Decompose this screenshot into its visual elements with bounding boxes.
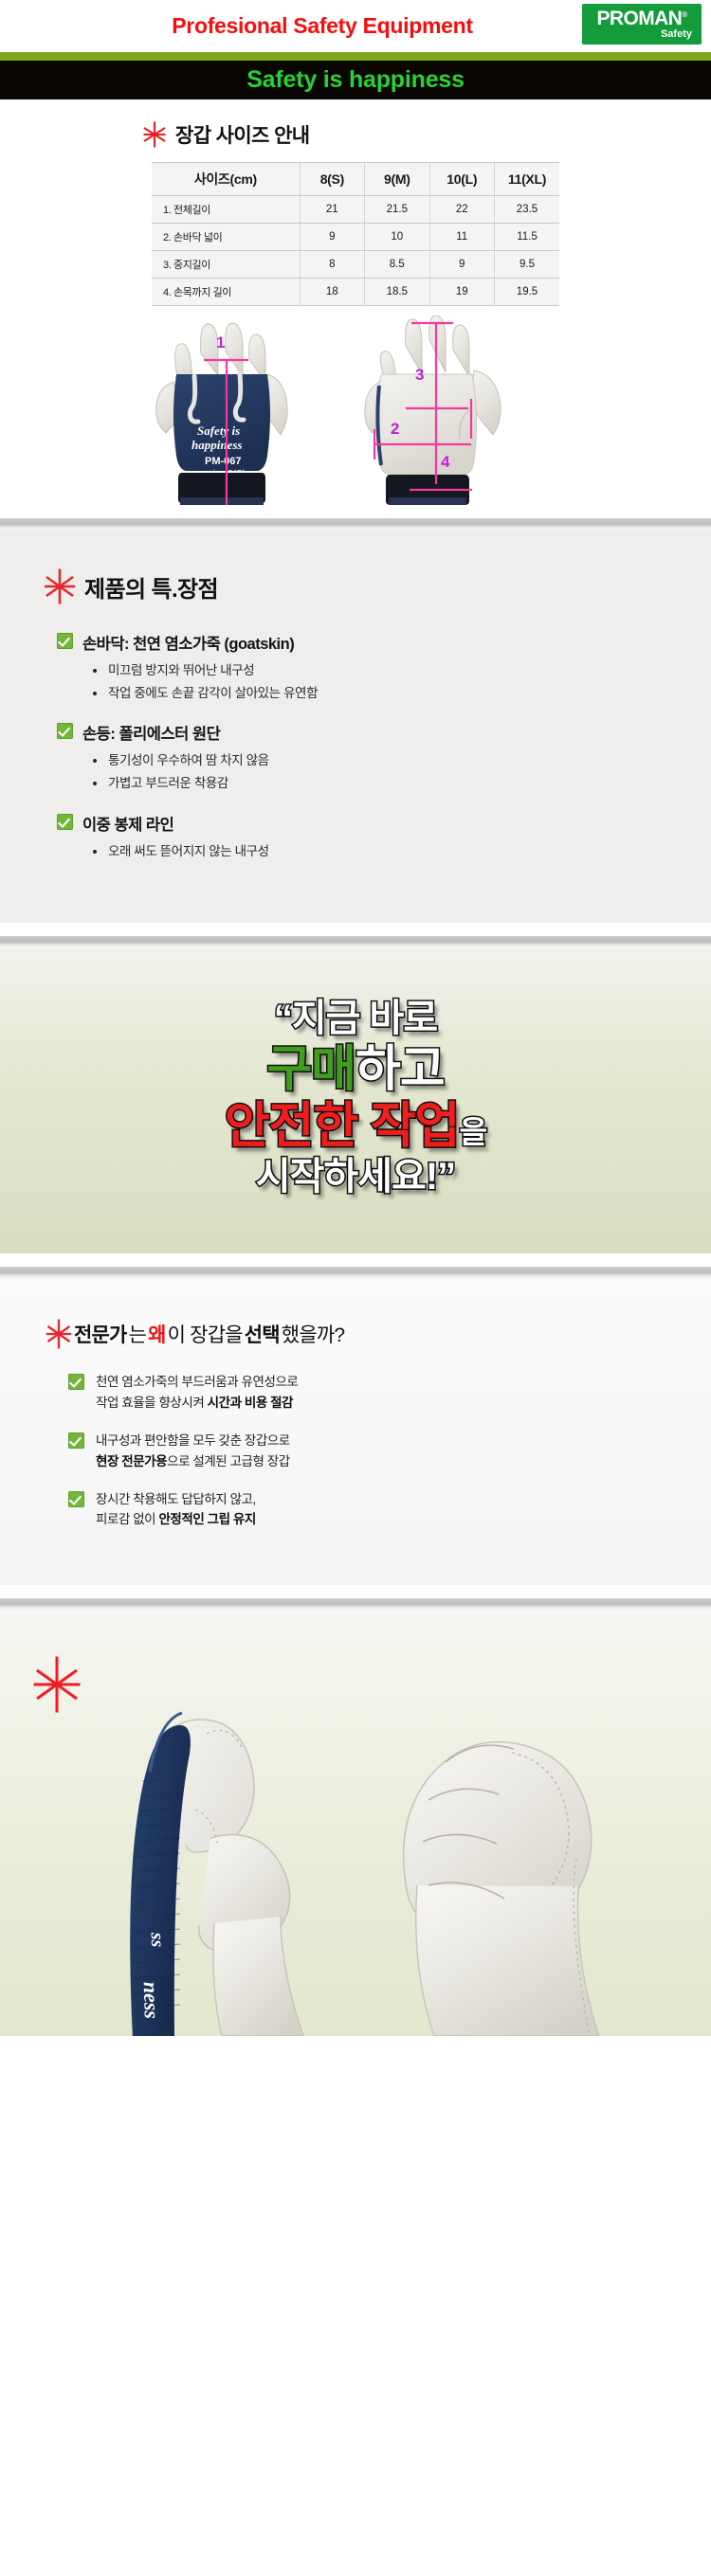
list-item: 오래 써도 뜯어지지 않는 내구성 [93,840,711,863]
section-separator-bar [0,518,711,531]
col-header-m: 9(M) [365,163,429,196]
cell-value: 21.5 [365,196,429,224]
expert-title-tail: 했을까? [282,1320,344,1348]
feature-block: 손등: 폴리에스터 원단 통기성이 우수하여 땀 차지 않음 가볍고 부드러운 … [0,721,711,794]
glove-print-model: PM-067 [205,456,242,467]
expert-title-expert: 전문가 [74,1320,127,1348]
cell-value: 8 [300,251,364,279]
expert-reason-item: 내구성과 편안함을 모두 갖춘 장갑으로 현장 전문가용으로 설계된 고급형 장… [0,1431,711,1472]
green-check-icon [57,814,73,830]
expert-reason-text: 내구성과 편안함을 모두 갖춘 장갑으로 현장 전문가용으로 설계된 고급형 장… [96,1431,290,1472]
list-item: 작업 중에도 손끝 감각이 살아있는 유연함 [93,682,711,705]
registered-mark-icon: ® [682,10,686,19]
features-heading: 제품의 특.장점 [0,568,711,604]
green-check-icon [68,1374,84,1390]
row-label: 4. 손목까지 길이 [152,279,300,306]
table-row: 4. 손목까지 길이 18 18.5 19 19.5 [152,279,559,306]
cell-value: 23.5 [494,196,559,224]
reason-line-2-bold: 안정적인 그립 유지 [158,1512,255,1526]
cell-value: 22 [429,196,494,224]
cta-line-3: 안전한 작업을 [0,1099,711,1154]
size-guide-heading: 장갑 사이즈 안내 [0,120,711,149]
cell-value: 9 [429,251,494,279]
header-tagline: Profesional Safety Equipment [172,13,539,39]
hero-product-photo: ss ness [0,1611,711,2036]
cell-value: 18 [300,279,364,306]
row-label: 3. 중지길이 [152,251,300,279]
reason-line-1: 내구성과 편안함을 모두 갖춘 장갑으로 [96,1433,290,1448]
section-separator-bar [0,936,711,948]
green-check-icon [68,1491,84,1507]
reason-line-2-normal: 으로 설계된 고급형 장갑 [167,1454,290,1468]
expert-title-why: 왜 [148,1320,166,1348]
table-header-row: 사이즈(cm) 8(S) 9(M) 10(L) 11(XL) [152,163,559,196]
glove-left-gripping: ss ness [130,1713,303,2036]
glove-measurement-diagram: Safety is happiness PM-067 size 8(S) [0,315,711,505]
cta-text-particle: 을 [460,1115,487,1149]
logo-wordmark: PROMAN® [596,9,686,28]
expert-section: 전문가는 왜 이 장갑을 선택했을까? 천연 염소가죽의 부드러움과 유연성으로… [0,1279,711,1585]
feature-block: 이중 봉제 라인 오래 써도 뜯어지지 않는 내구성 [0,812,711,863]
feature-title: 이중 봉제 라인 [82,812,173,835]
cell-value: 9 [300,224,364,251]
cell-value: 19 [429,279,494,306]
call-to-action-section: “지금 바로 구매하고 안전한 작업을 시작하세요!” [0,948,711,1253]
table-row: 3. 중지길이 8 8.5 9 9.5 [152,251,559,279]
col-header-xl: 11(XL) [494,163,559,196]
feature-title: 손바닥: 천연 염소가죽 (goatskin) [82,631,294,654]
green-check-icon [57,633,73,649]
expert-heading: 전문가는 왜 이 장갑을 선택했을까? [0,1319,711,1349]
expert-reason-item: 천연 염소가죽의 부드러움과 유연성으로 작업 효율을 향상시켜 시간과 비용 … [0,1372,711,1414]
glove-palm-illustration [365,315,501,505]
slogan-text: Safety is happiness [246,66,465,94]
feature-block: 손바닥: 천연 염소가죽 (goatskin) 미끄럼 방지와 뛰어난 내구성 … [0,631,711,704]
cell-value: 11 [429,224,494,251]
marker-1: 1 [216,333,225,351]
table-row: 2. 손바닥 넓이 9 10 11 11.5 [152,224,559,251]
feature-bullet-list: 미끄럼 방지와 뛰어난 내구성 작업 중에도 손끝 감각이 살아있는 유연함 [57,659,711,704]
expert-reason-text: 천연 염소가죽의 부드러움과 유연성으로 작업 효율을 향상시켜 시간과 비용 … [96,1372,298,1414]
cta-text-start: 시작하세요! [256,1156,437,1198]
size-table: 사이즈(cm) 8(S) 9(M) 10(L) 11(XL) 1. 전체길이 2… [152,162,559,306]
feature-title-row: 손등: 폴리에스터 원단 [57,721,711,744]
reason-line-2-bold: 현장 전문가용 [96,1454,167,1468]
cell-value: 11.5 [494,224,559,251]
slogan-banner: Safety is happiness [0,61,711,99]
feature-title: 손등: 폴리에스터 원단 [82,721,220,744]
green-check-icon [57,723,73,739]
section-gap [0,1253,711,1267]
feature-bullet-list: 오래 써도 뜯어지지 않는 내구성 [57,840,711,863]
logo-subtitle: Safety [661,29,692,40]
expert-title-object: 이 장갑을 [168,1320,243,1348]
feature-bullet-list: 통기성이 우수하여 땀 차지 않음 가볍고 부드러운 착용감 [57,749,711,794]
marker-2: 2 [391,420,399,438]
header-bar: Profesional Safety Equipment PROMAN® Saf… [0,0,711,52]
green-divider-rule [0,52,711,61]
cta-line-4: 시작하세요!” [0,1156,711,1198]
size-guide-title-text: 장갑 사이즈 안내 [175,120,310,149]
cell-value: 8.5 [365,251,429,279]
reason-line-2-normal: 피로감 없이 [96,1512,158,1526]
cell-value: 9.5 [494,251,559,279]
section-gap [0,923,711,936]
cta-text-and: 하고 [355,1042,445,1097]
cell-value: 21 [300,196,364,224]
glove-print-line1: Safety is [197,423,240,438]
product-detail-page: Profesional Safety Equipment PROMAN® Saf… [0,0,711,2036]
section-gap [0,505,711,518]
red-asterisk-icon [44,568,76,604]
table-row: 1. 전체길이 21 21.5 22 23.5 [152,196,559,224]
col-header-size: 사이즈(cm) [152,163,300,196]
reason-line-2-normal: 작업 효율을 향상시켜 [96,1396,208,1410]
section-gap [0,1585,711,1598]
logo-name: PROMAN [596,8,682,29]
cell-value: 10 [365,224,429,251]
list-item: 가볍고 부드러운 착용감 [93,772,711,795]
glove-right-fist [404,1742,599,2036]
cta-open-quote: “ [274,998,292,1039]
features-title-text: 제품의 특.장점 [84,570,218,603]
cta-text-safe-work: 안전한 작업 [225,1099,460,1154]
glove-print-fragment-1: ss [147,1932,169,1949]
cell-value: 19.5 [494,279,559,306]
size-guide-section: 장갑 사이즈 안내 사이즈(cm) 8(S) 9(M) 10(L) 11(XL)… [0,99,711,505]
cta-text-buy: 구매 [266,1042,355,1097]
section-separator-bar [0,1267,711,1279]
reason-line-1: 천연 염소가죽의 부드러움과 유연성으로 [96,1375,298,1389]
row-label: 1. 전체길이 [152,196,300,224]
marker-4: 4 [441,453,450,471]
marker-3: 3 [415,366,424,384]
cta-text-now: 지금 바로 [292,998,437,1039]
features-section: 제품의 특.장점 손바닥: 천연 염소가죽 (goatskin) 미끄럼 방지와… [0,531,711,923]
expert-reason-item: 장시간 착용해도 답답하지 않고, 피로감 없이 안정적인 그립 유지 [0,1489,711,1531]
reason-line-1: 장시간 착용해도 답답하지 않고, [96,1492,256,1506]
cta-close-quote: ” [437,1156,455,1198]
row-label: 2. 손바닥 넓이 [152,224,300,251]
cell-value: 18.5 [365,279,429,306]
expert-title-choose: 선택 [245,1320,280,1348]
cta-line-1: “지금 바로 [0,998,711,1040]
glove-print-fragment-2: ness [139,1982,164,2020]
col-header-l: 10(L) [429,163,494,196]
list-item: 미끄럼 방지와 뛰어난 내구성 [93,659,711,682]
red-asterisk-icon [46,1319,72,1349]
feature-title-row: 손바닥: 천연 염소가죽 (goatskin) [57,631,711,654]
red-asterisk-icon [142,121,167,148]
cta-line-2: 구매하고 [0,1042,711,1097]
green-check-icon [68,1432,84,1449]
col-header-s: 8(S) [300,163,364,196]
reason-line-2-bold: 시간과 비용 절감 [208,1396,293,1410]
list-item: 통기성이 우수하여 땀 차지 않음 [93,749,711,772]
expert-reason-text: 장시간 착용해도 답답하지 않고, 피로감 없이 안정적인 그립 유지 [96,1489,256,1531]
glove-print-line2: happiness [191,438,242,452]
proman-safety-logo: PROMAN® Safety [582,4,702,45]
section-separator-bar [0,1598,711,1611]
expert-title-topic: 는 [129,1320,147,1348]
feature-title-row: 이중 봉제 라인 [57,812,711,835]
